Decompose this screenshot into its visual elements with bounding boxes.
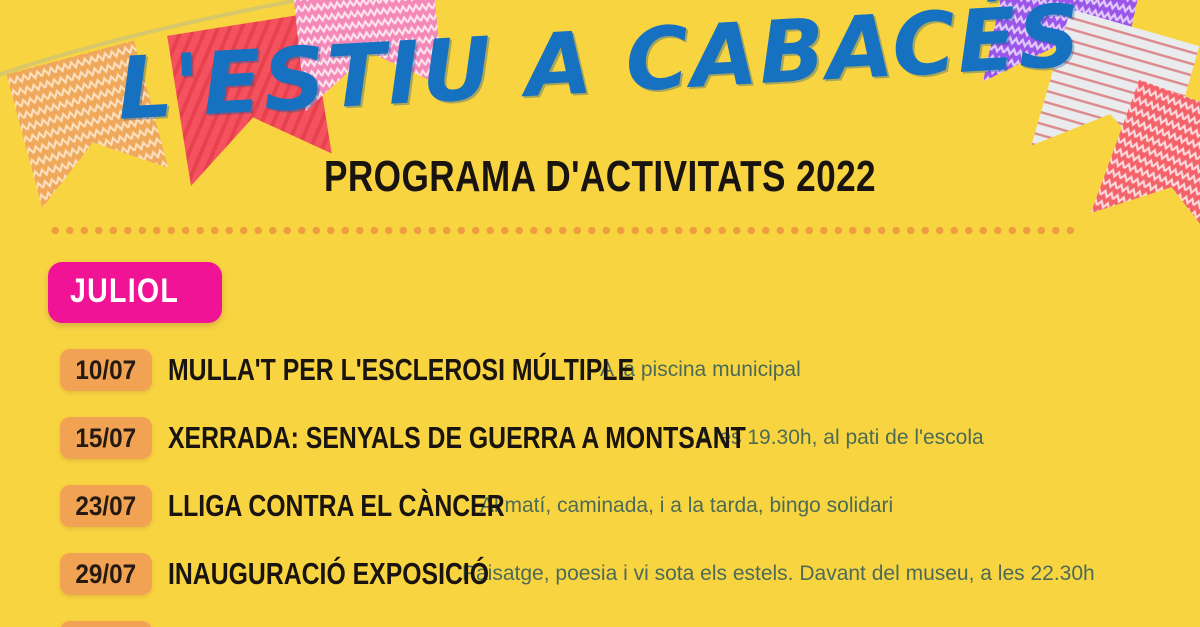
list-item[interactable]: 15/07 XERRADA: SENYALS DE GUERRA A MONTS…	[0, 416, 1200, 460]
event-date-chip: 10/07	[60, 349, 152, 391]
event-description: Al matí, caminada, i a la tarda, bingo s…	[480, 494, 893, 518]
list-item[interactable]: 23/07 LLIGA CONTRA EL CÀNCER Al matí, ca…	[0, 484, 1200, 528]
poster-title-wrap: L'ESTIU A CABACÉS	[0, 18, 1200, 108]
list-item[interactable]: 10/07 MULLA'T PER L'ESCLEROSI MÚLTIPLE A…	[0, 348, 1200, 392]
list-item-partial[interactable]	[0, 620, 1200, 627]
event-description: Paisatge, poesia i vi sota els estels. D…	[462, 562, 1095, 586]
event-date-chip	[60, 621, 152, 627]
month-badge-label: JULIOL	[70, 272, 179, 311]
event-date-label: 29/07	[76, 559, 137, 590]
poster-subtitle: PROGRAMA D'ACTIVITATS 2022	[120, 152, 1080, 202]
event-date-label: 15/07	[76, 423, 137, 454]
event-title: MULLA'T PER L'ESCLEROSI MÚLTIPLE	[168, 352, 496, 388]
event-date-chip: 23/07	[60, 485, 152, 527]
page-title: L'ESTIU A CABACÉS	[115, 0, 1084, 135]
event-date-label: 10/07	[76, 355, 137, 386]
event-date-chip: 15/07	[60, 417, 152, 459]
month-badge-juliol[interactable]: JULIOL	[48, 262, 222, 323]
event-title: LLIGA CONTRA EL CÀNCER	[168, 488, 400, 524]
event-title: INAUGURACIÓ EXPOSICIÓ	[168, 556, 390, 592]
event-date-chip: 29/07	[60, 553, 152, 595]
list-item[interactable]: 29/07 INAUGURACIÓ EXPOSICIÓ Paisatge, po…	[0, 552, 1200, 596]
event-date-label: 23/07	[76, 491, 137, 522]
events-list: 10/07 MULLA'T PER L'ESCLEROSI MÚLTIPLE A…	[0, 348, 1200, 627]
event-title: XERRADA: SENYALS DE GUERRA A MONTSANT	[168, 420, 573, 456]
dotted-divider	[48, 226, 1080, 235]
